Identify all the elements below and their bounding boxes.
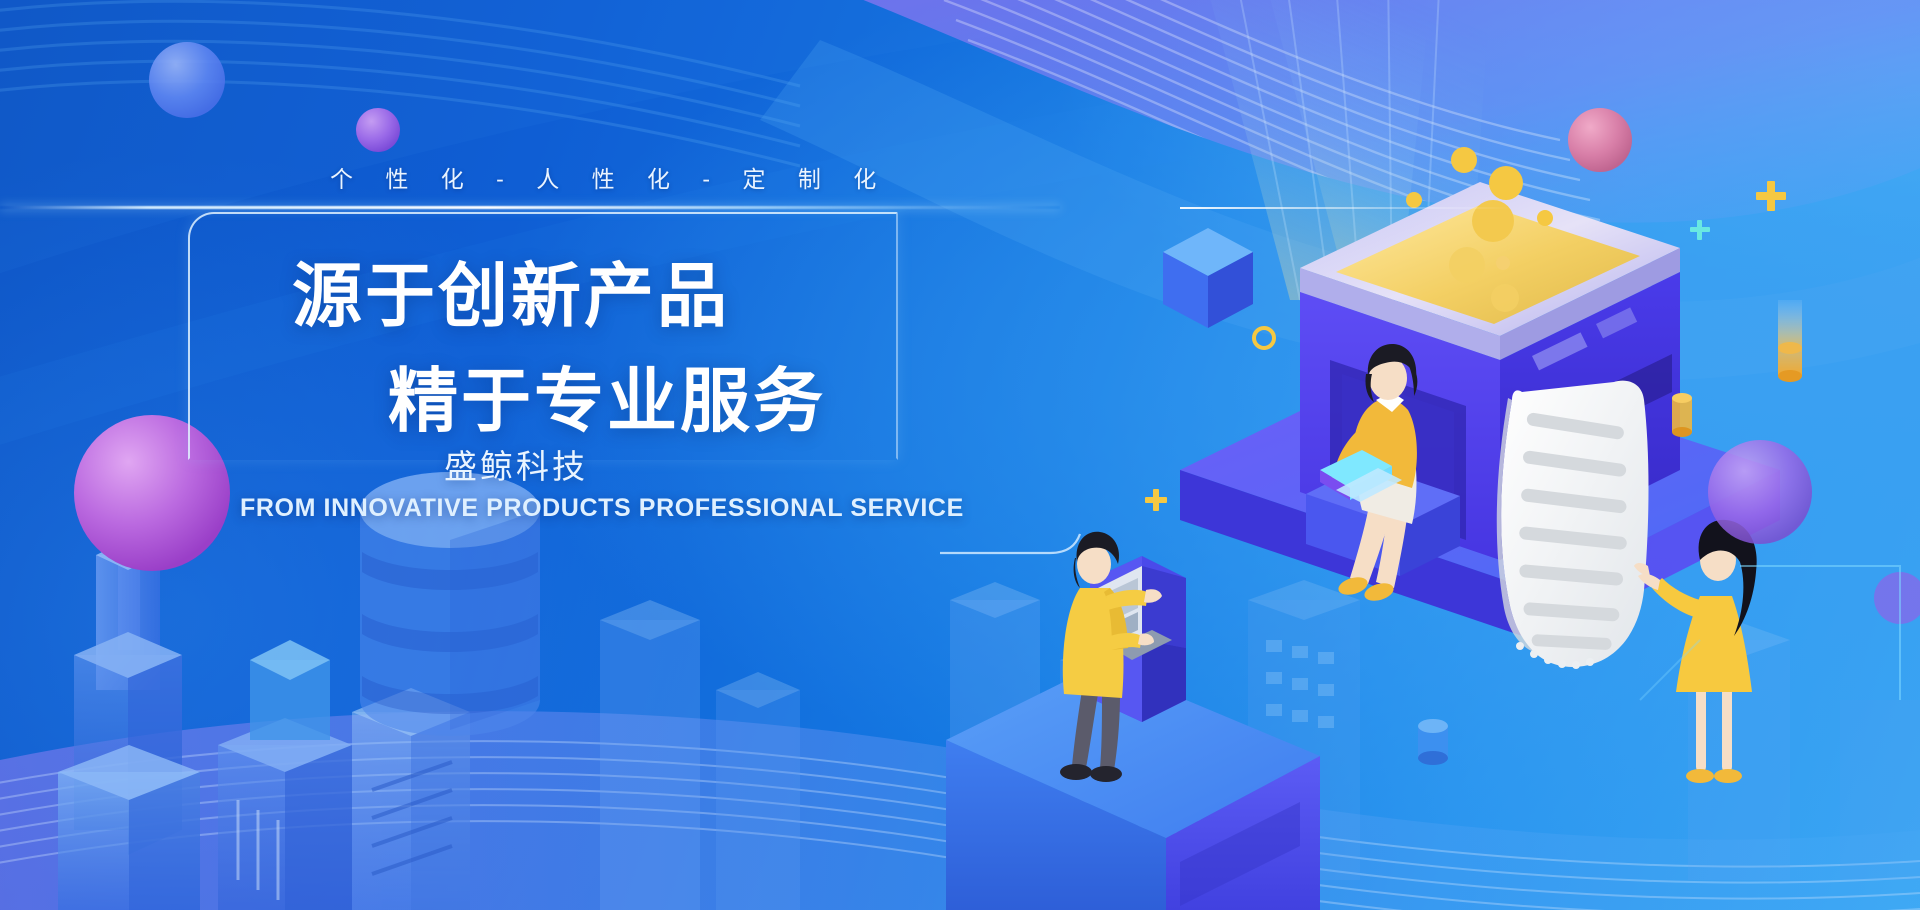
falling-cylinder-small: [1672, 393, 1692, 437]
frame-sheen-line-right: [1180, 207, 1510, 209]
glow-outline-right-2: [1640, 640, 1700, 700]
yellow-dot-1: [1451, 147, 1477, 173]
yellow-plus-left: [1145, 489, 1167, 511]
yellow-dot-7: [1496, 256, 1510, 270]
pink-sphere-right: [1568, 108, 1632, 172]
headline-text-block: 个 性 化 - 人 性 化 - 定 制 化 源于创新产品 精于专业服务 盛鲸科技…: [0, 0, 1100, 700]
teal-cylinder: [1418, 719, 1448, 765]
headline-line-1: 源于创新产品: [292, 240, 730, 341]
violet-sphere-small-right: [1874, 572, 1920, 624]
cyan-plus: [1690, 220, 1710, 240]
yellow-plus-right: [1756, 181, 1786, 211]
yellow-dot-5: [1537, 210, 1553, 226]
falling-cylinder: [1778, 300, 1802, 382]
kicker-text: 个 性 化 - 人 性 化 - 定 制 化: [330, 160, 889, 194]
hero-banner: 个 性 化 - 人 性 化 - 定 制 化 源于创新产品 精于专业服务 盛鲸科技…: [0, 0, 1920, 910]
violet-sphere-mid-right: [1708, 440, 1812, 544]
yellow-dot-2: [1489, 166, 1523, 200]
yellow-ring: [1254, 328, 1274, 348]
headline-line-2: 精于专业服务: [388, 345, 826, 446]
yellow-dot-6: [1449, 247, 1485, 283]
brand-name: 盛鲸科技: [444, 440, 588, 488]
glow-outline-right: [1740, 566, 1900, 700]
frame-sheen-line: [0, 206, 1060, 209]
english-subline: FROM INNOVATIVE PRODUCTS PROFESSIONAL SE…: [240, 494, 964, 523]
yellow-dot-8: [1491, 284, 1519, 312]
yellow-dot-3: [1406, 192, 1422, 208]
